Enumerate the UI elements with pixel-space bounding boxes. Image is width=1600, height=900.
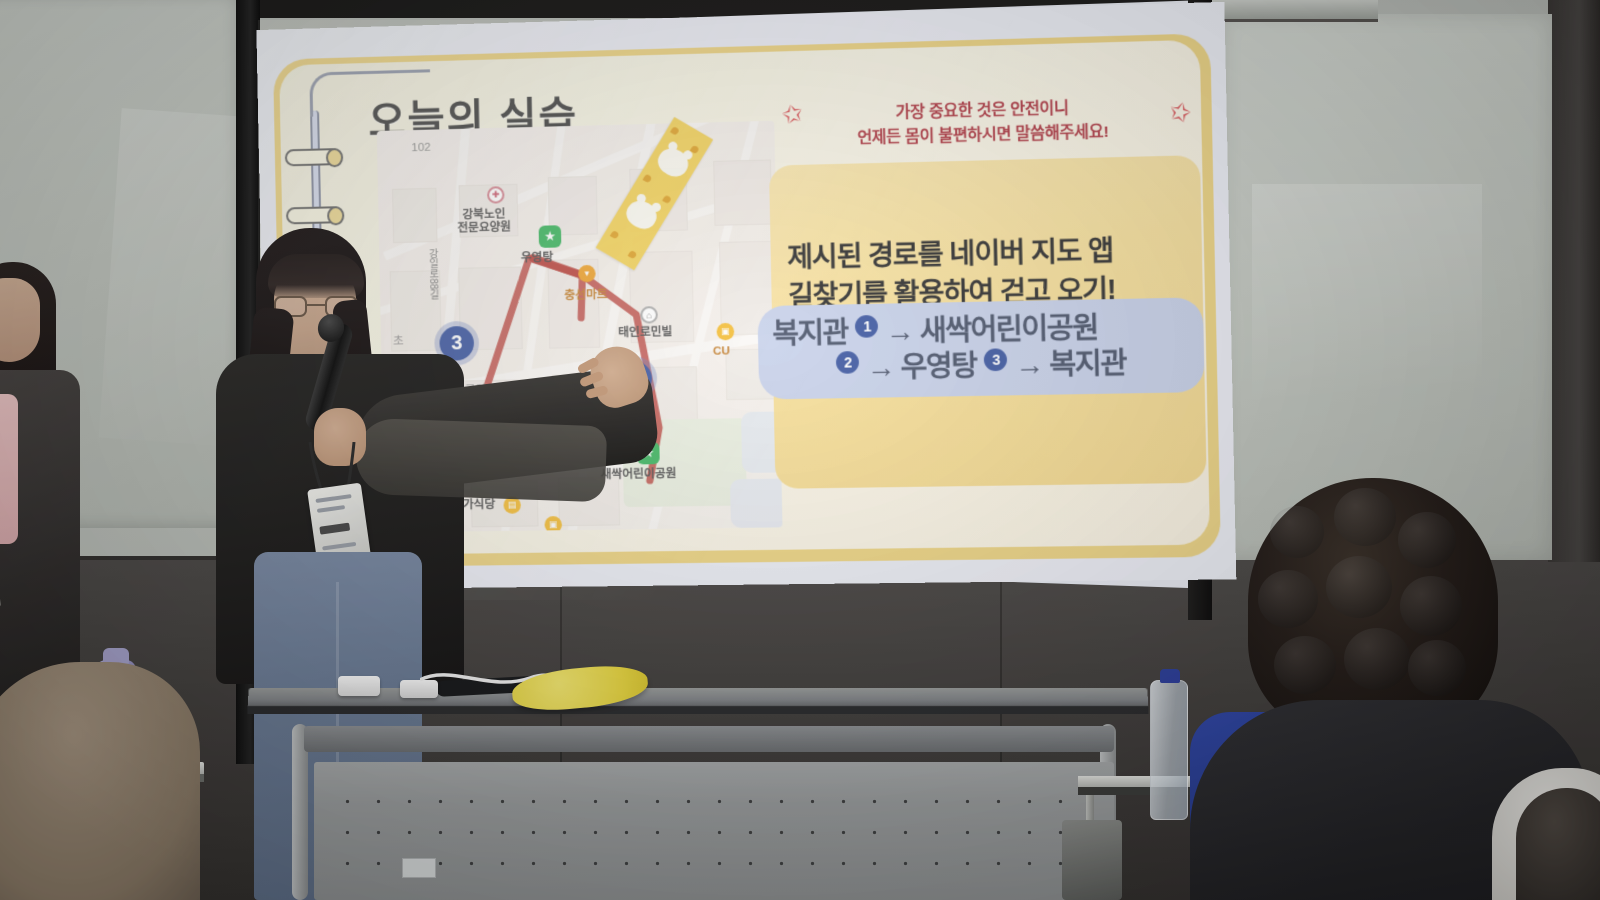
- map-label: CU: [713, 345, 730, 359]
- audience-curly-hair-right: [1248, 478, 1498, 738]
- screenshot-root: 오늘의 실습: [0, 0, 1600, 900]
- route-step-number-3: 3: [984, 348, 1007, 371]
- bottle-cap: [1160, 669, 1180, 683]
- wall-right-dark: [1548, 0, 1600, 562]
- water-bottle: [1150, 680, 1188, 820]
- route-arrow-2: →: [866, 351, 894, 383]
- route-arrow-1: →: [885, 315, 913, 347]
- panel-sticker: [402, 858, 436, 878]
- map-label: 102: [411, 142, 431, 156]
- route-stop-2: 새싹어린이공원: [919, 312, 1098, 347]
- route-stop-3: 우영탕: [900, 350, 977, 383]
- cat-sticker-icon: [653, 143, 693, 181]
- presentation-clicker[interactable]: [338, 676, 380, 696]
- table-skirt: [304, 726, 1114, 752]
- route-step-number-2: 2: [836, 351, 859, 374]
- perforated-front-panel: [314, 762, 1114, 900]
- audience-foreground-left: [0, 662, 200, 900]
- binder-ring-icon: [285, 148, 341, 166]
- inner-shirt: [0, 394, 18, 544]
- table-top: [247, 688, 1148, 714]
- route-stop-4: 복지관: [1049, 347, 1126, 380]
- bangs: [268, 254, 364, 298]
- route-summary-pill: 복지관 1 → 새싹어린이공원 2 → 우영탕 3 → 복지관: [757, 297, 1204, 399]
- glare: [1252, 184, 1482, 484]
- sleeve: [355, 418, 608, 503]
- projector-screen-housing: [1198, 0, 1378, 22]
- route-line-2: 2 → 우영탕 3 → 복지관: [773, 344, 1190, 387]
- safety-notice: 가장 중요한 것은 안전이니 언제든 몸이 불편하시면 말씀해주세요!: [774, 93, 1193, 153]
- route-arrow-3: →: [1015, 349, 1043, 381]
- route-stop-1: 복지관: [772, 317, 848, 350]
- route-step-number-1: 1: [855, 315, 878, 338]
- presenter-table: [248, 688, 1148, 900]
- hair: [1516, 788, 1600, 900]
- chair-right: [1062, 820, 1122, 900]
